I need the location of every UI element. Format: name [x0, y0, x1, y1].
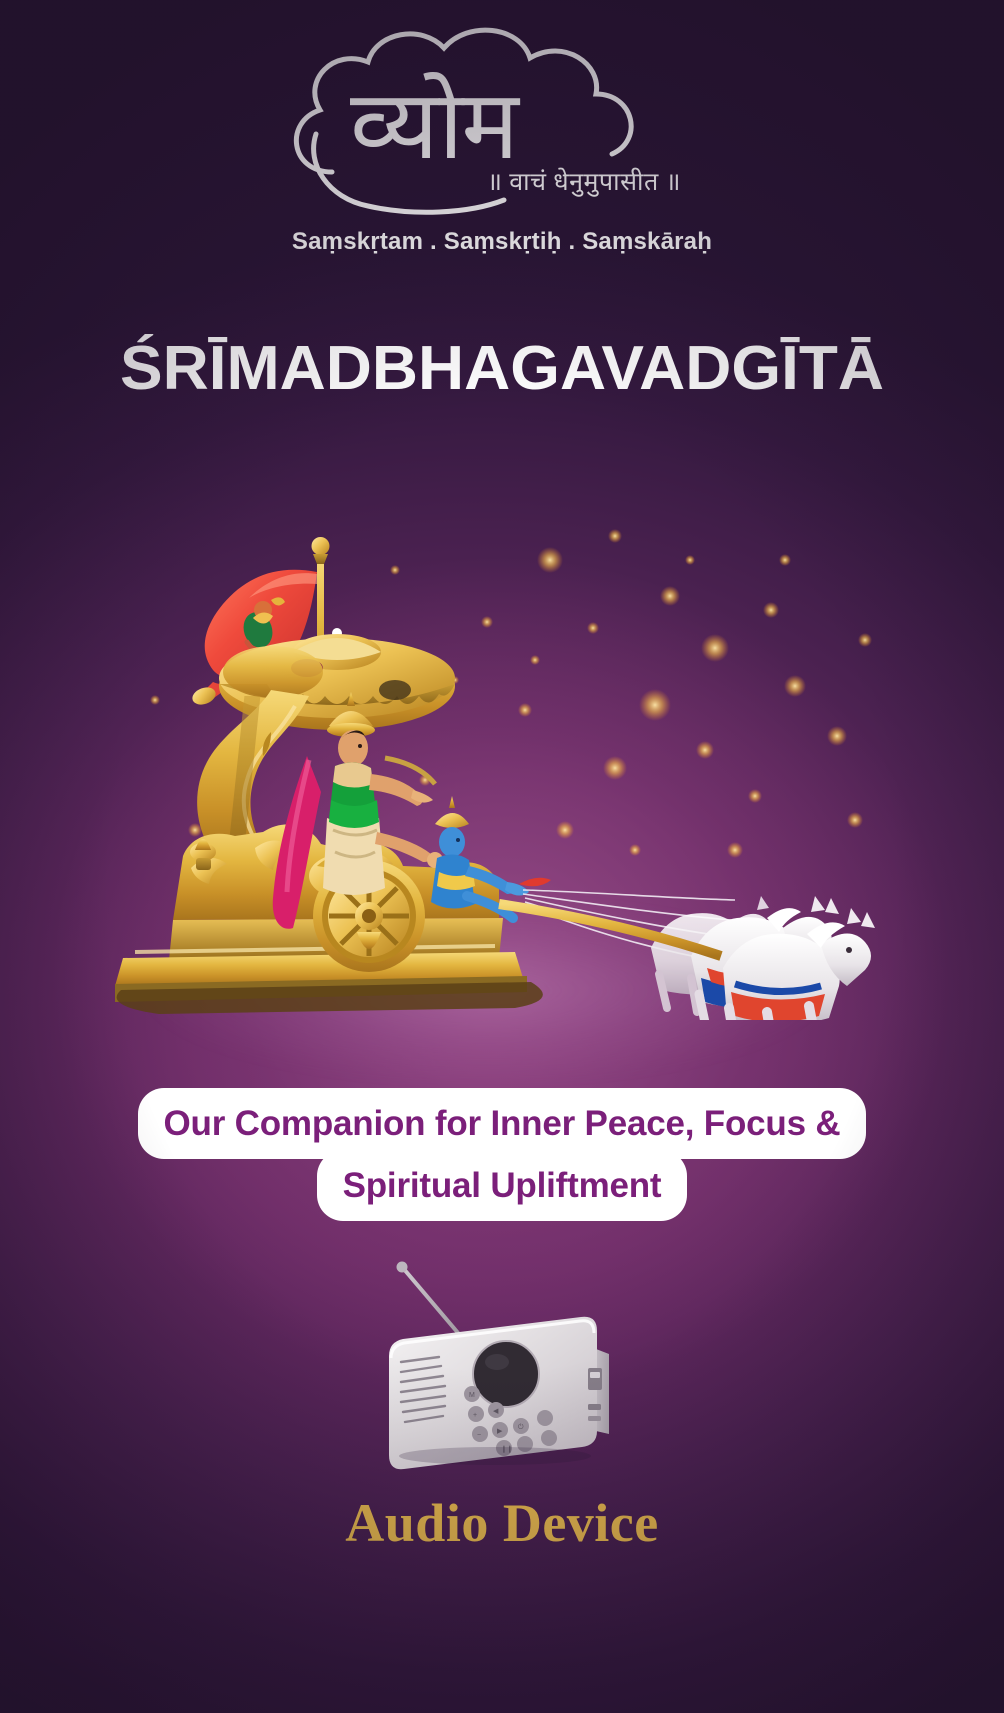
subtitle-line-2: Spiritual Upliftment — [317, 1150, 688, 1221]
portable-radio-icon: M + − ◀ ▶ ❙❙ ⏻ — [355, 1258, 645, 1478]
svg-text:⏻: ⏻ — [518, 1423, 524, 1431]
svg-text:−: − — [477, 1432, 481, 1439]
subtitle-banner: Our Companion for Inner Peace, Focus & S… — [0, 1093, 1004, 1217]
subtitle-line-1: Our Companion for Inner Peace, Focus & — [138, 1088, 867, 1159]
usb-slot-icon — [588, 1368, 602, 1390]
logo-motto: ॥ वाचं धेनुमुपासीत ॥ — [487, 170, 747, 195]
vyoma-logo: व्योम ॥ वाचं धेनुमुपासीत ॥ Saṃskṛtam . S… — [0, 22, 1004, 272]
poster-canvas: व्योम ॥ वाचं धेनुमुपासीत ॥ Saṃskṛtam . S… — [0, 0, 1004, 1713]
logo-brand-script: व्योम — [350, 78, 710, 174]
svg-text:+: + — [473, 1412, 477, 1419]
page-title: ŚRĪMADBHAGAVADGĪTĀ — [0, 338, 1004, 400]
logo-tagline: Saṃskṛtam . Saṃskṛtiḥ . Saṃskāraḥ — [272, 228, 732, 256]
svg-text:▶: ▶ — [497, 1428, 503, 1435]
krishna-arjuna-chariot-illustration — [95, 500, 905, 1020]
svg-text:M: M — [469, 1392, 475, 1399]
device-label: Audio Device — [0, 1492, 1004, 1554]
sd-slot-icon — [588, 1404, 601, 1410]
svg-text:◀: ◀ — [493, 1408, 499, 1415]
